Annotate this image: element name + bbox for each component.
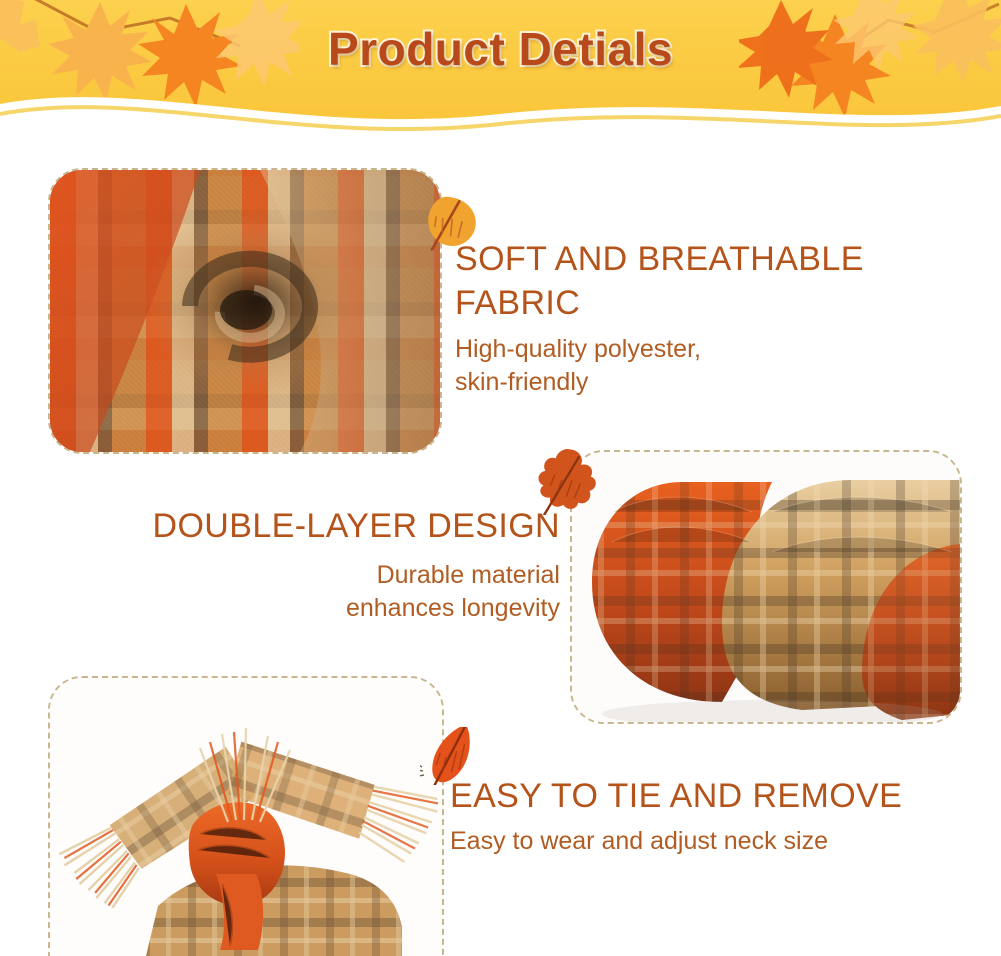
- feature-text-easy-to-tie-and-remove: EASY TO TIE AND REMOVE Easy to wear and …: [450, 775, 995, 858]
- feature-heading: EASY TO TIE AND REMOVE: [450, 775, 995, 819]
- fabric-swirl-overlay: [50, 170, 440, 452]
- feature-image-easy-to-tie-and-remove: [48, 676, 444, 956]
- feature-body-line-2: skin-friendly: [455, 366, 975, 399]
- feature-body-line-1: Easy to wear and adjust neck size: [450, 825, 995, 858]
- page-title: Product Detials: [0, 22, 1001, 76]
- feature-body-line-1: Durable material: [60, 559, 560, 592]
- feature-image-soft-breathable-fabric: [48, 168, 442, 454]
- feature-body-line-2: enhances longevity: [60, 592, 560, 625]
- feature-body-line-1: High-quality polyester,: [455, 333, 975, 366]
- feature-text-soft-breathable-fabric: SOFT AND BREATHABLE FABRIC High-quality …: [455, 238, 975, 399]
- knot-and-fringe-overlay: [50, 678, 442, 956]
- scarf-folds-overlay: [572, 452, 960, 722]
- feature-heading: DOUBLE-LAYER DESIGN: [60, 505, 560, 549]
- plaid-fabric-swirl-photo: [50, 170, 440, 452]
- folded-scarf-photo: [572, 452, 960, 722]
- banner-wave-divider: [0, 70, 1001, 140]
- knotted-scarf-photo: [50, 678, 442, 956]
- feature-image-double-layer-design: [570, 450, 962, 724]
- feature-text-double-layer-design: DOUBLE-LAYER DESIGN Durable material enh…: [60, 505, 560, 625]
- header-banner: Product Detials: [0, 0, 1001, 140]
- feature-heading: SOFT AND BREATHABLE FABRIC: [455, 238, 975, 325]
